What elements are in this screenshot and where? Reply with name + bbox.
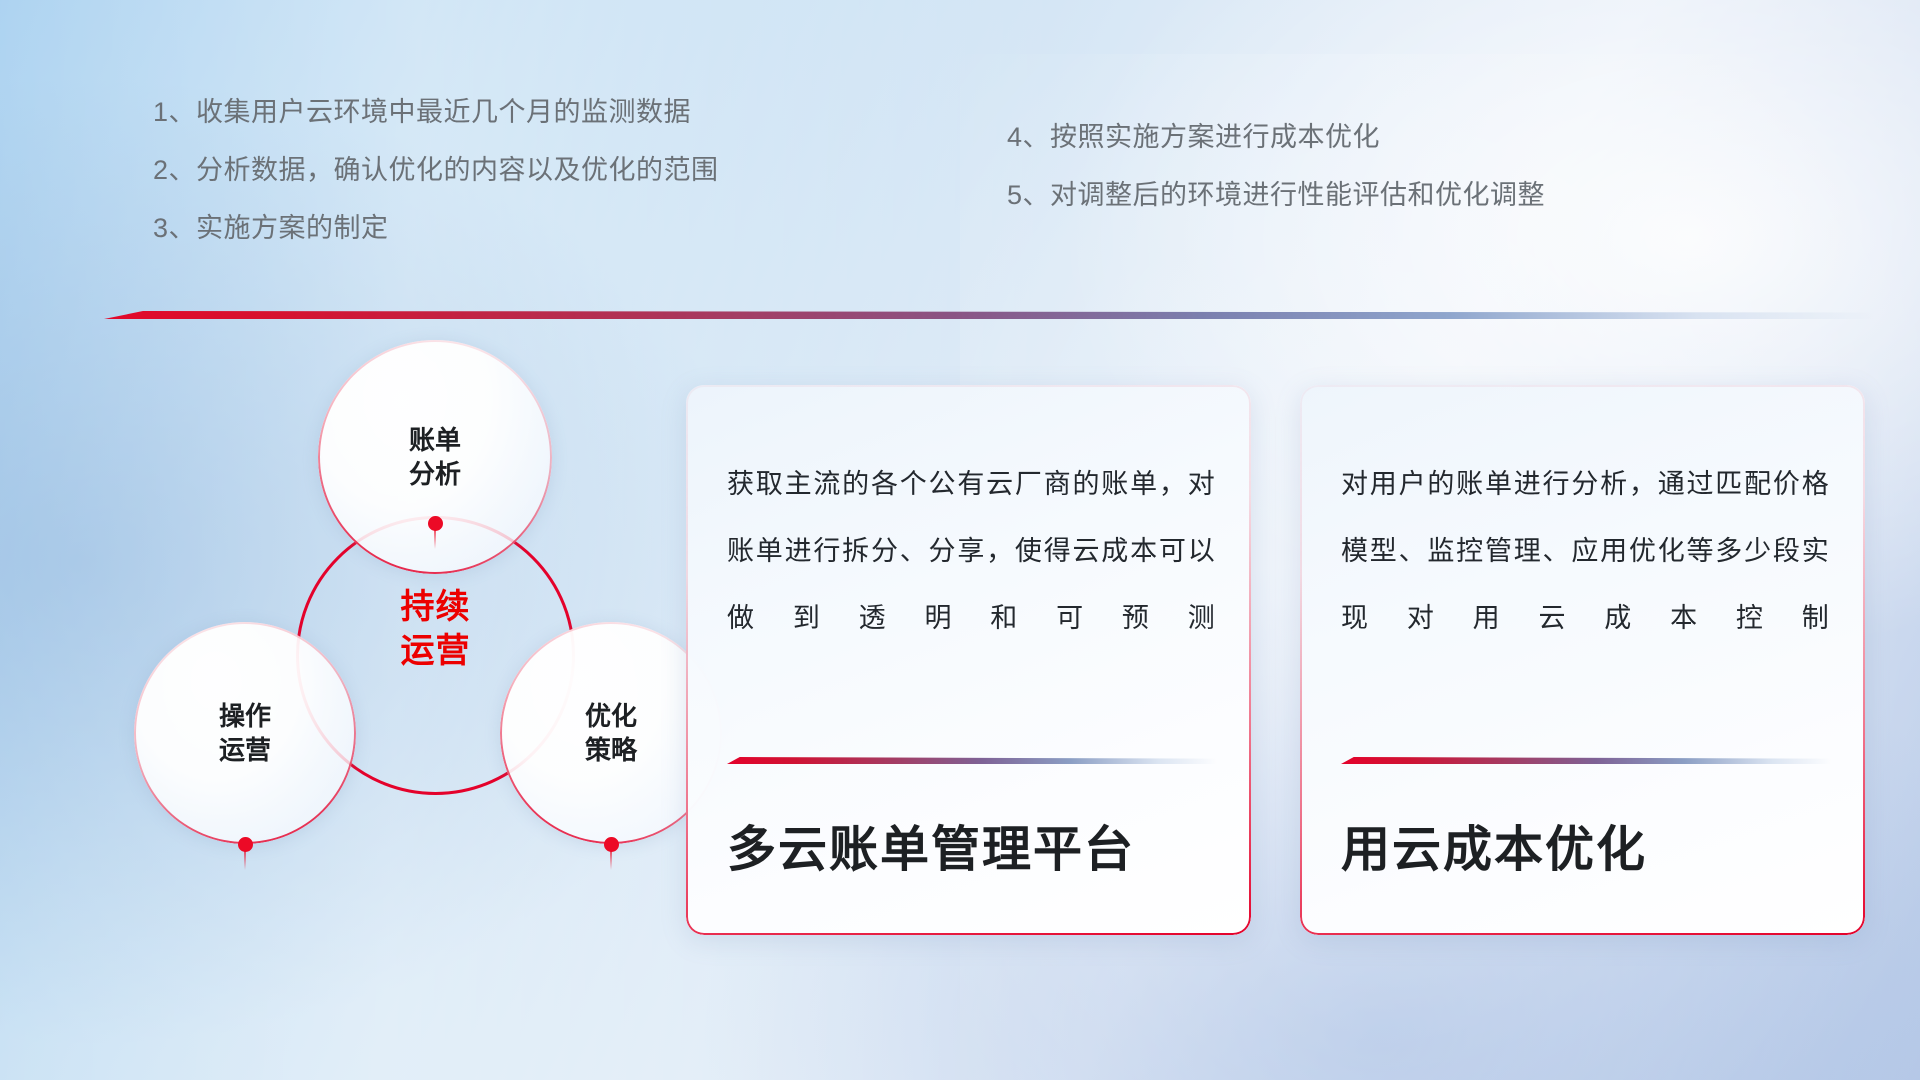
step-item: 3、实施方案的制定 (153, 215, 719, 242)
card-body-text: 获取主流的各个公有云厂商的账单，对账单进行拆分、分享，使得云成本可以做到透明和可… (727, 451, 1215, 652)
section-divider (104, 311, 1874, 319)
bubble-label: 优化 策略 (585, 699, 637, 768)
bubble-label-line1: 操作 (219, 701, 271, 731)
bubble-label: 操作 运营 (219, 699, 271, 768)
card-title: 用云成本优化 (1341, 822, 1829, 878)
step-item: 5、对调整后的环境进行性能评估和优化调整 (1007, 182, 1545, 209)
card-body-text: 对用户的账单进行分析，通过匹配价格模型、监控管理、应用优化等多少段实现对用云成本… (1341, 451, 1829, 652)
connector-dot-icon (604, 837, 619, 852)
card-divider (1341, 757, 1831, 764)
bubble-label-line1: 优化 (585, 701, 637, 731)
connector-dot-icon (238, 837, 253, 852)
card-multicloud-billing[interactable]: 获取主流的各个公有云厂商的账单，对账单进行拆分、分享，使得云成本可以做到透明和可… (686, 385, 1251, 935)
bubble-label-line2: 策略 (585, 735, 637, 765)
venn-center-line1: 持续 (401, 588, 471, 626)
connector-dot-icon (428, 516, 443, 531)
card-title: 多云账单管理平台 (727, 822, 1215, 878)
venn-diagram: 账单 分析 操作 运营 优化 策略 持续 运营 (100, 350, 660, 950)
bubble-label-line2: 运营 (219, 735, 271, 765)
step-item: 2、分析数据，确认优化的内容以及优化的范围 (153, 157, 719, 184)
step-item: 1、收集用户云环境中最近几个月的监测数据 (153, 99, 719, 126)
venn-center-line2: 运营 (401, 632, 471, 670)
steps-left-column: 1、收集用户云环境中最近几个月的监测数据 2、分析数据，确认优化的内容以及优化的… (153, 99, 719, 273)
bubble-label-line1: 账单 (409, 425, 461, 455)
card-cloud-cost-optimization[interactable]: 对用户的账单进行分析，通过匹配价格模型、监控管理、应用优化等多少段实现对用云成本… (1300, 385, 1865, 935)
card-divider (727, 757, 1217, 764)
slide-canvas: 1、收集用户云环境中最近几个月的监测数据 2、分析数据，确认优化的内容以及优化的… (0, 0, 1920, 1080)
venn-center-label: 持续 运营 (296, 586, 575, 673)
step-item: 4、按照实施方案进行成本优化 (1007, 124, 1545, 151)
steps-right-column: 4、按照实施方案进行成本优化 5、对调整后的环境进行性能评估和优化调整 (1007, 124, 1545, 240)
bubble-label: 账单 分析 (409, 423, 461, 492)
bubble-label-line2: 分析 (409, 459, 461, 489)
